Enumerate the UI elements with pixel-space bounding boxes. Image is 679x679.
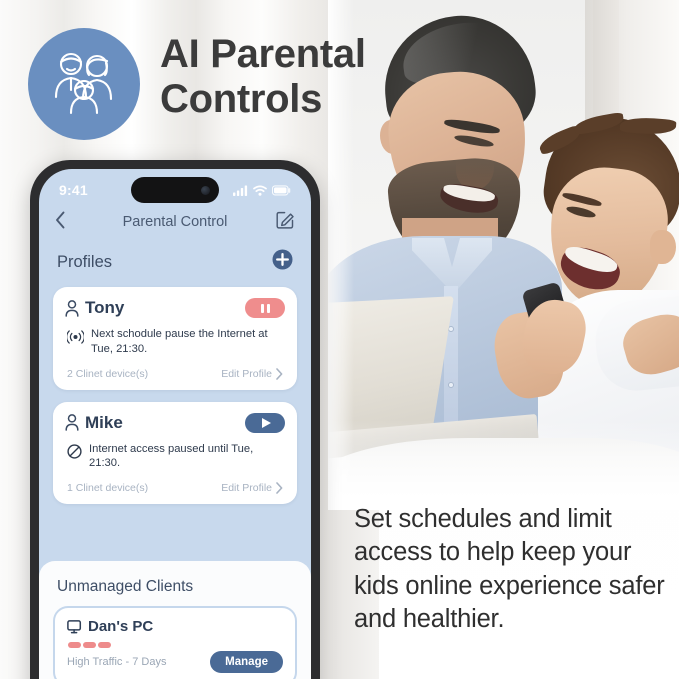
profile-status-row: Internet access paused until Tue, 21:30.: [65, 433, 285, 472]
compose-edit-icon: [276, 210, 295, 229]
profile-name: Mike: [85, 413, 123, 433]
back-button[interactable]: [55, 211, 66, 234]
play-icon: [262, 418, 271, 428]
client-name: Dan's PC: [88, 618, 153, 635]
client-traffic-status: High Traffic - 7 Days: [67, 656, 166, 668]
profile-card-footer: 2 Clinet device(s) Edit Profile: [65, 357, 285, 390]
person-icon: [65, 300, 79, 317]
wifi-icon: [253, 185, 267, 196]
profile-status-text: Internet access paused until Tue, 21:30.: [89, 442, 285, 472]
unmanaged-clients-panel: Unmanaged Clients Dan's PC High Traffic …: [39, 561, 311, 679]
profile-name: Tony: [85, 298, 124, 318]
traffic-level-indicator: [68, 642, 283, 648]
page-title: AI Parental Controls: [160, 32, 430, 122]
chevron-left-icon: [55, 211, 66, 229]
edit-profile-label: Edit Profile: [221, 368, 272, 380]
marketing-copy: Set schedules and limit access to help k…: [354, 503, 666, 637]
page-title-line1: AI Parental: [160, 32, 430, 77]
profiles-section-header: Profiles: [39, 239, 311, 283]
compose-edit-button[interactable]: [276, 210, 295, 234]
client-card-footer: High Traffic - 7 Days Manage: [67, 651, 283, 673]
profile-card-header: Mike: [65, 413, 285, 433]
father-shirt-button: [448, 382, 454, 388]
block-icon: [67, 444, 82, 459]
profile-card[interactable]: Tony Next schodule pause the Internet at…: [53, 287, 297, 390]
edit-profile-label: Edit Profile: [221, 482, 272, 494]
plus-circle-icon: [272, 249, 293, 270]
son-ear: [650, 230, 676, 264]
status-bar-time: 9:41: [59, 182, 88, 198]
profile-status-row: Next schodule pause the Internet at Tue,…: [65, 318, 285, 357]
nav-title: Parental Control: [39, 214, 311, 230]
battery-icon: [272, 185, 291, 196]
chevron-right-icon: [276, 482, 283, 494]
profile-card[interactable]: Mike Internet access paused until Tue, 2…: [53, 402, 297, 505]
promo-banner: AI Parental Controls Set schedules and l…: [0, 0, 679, 679]
monitor-icon: [67, 620, 83, 634]
edit-profile-button[interactable]: Edit Profile: [221, 482, 283, 494]
page-title-line2: Controls: [160, 77, 430, 122]
pause-toggle-button[interactable]: [245, 298, 285, 318]
add-profile-button[interactable]: [272, 249, 293, 275]
profile-device-count: 2 Clinet device(s): [67, 368, 148, 380]
edit-profile-button[interactable]: Edit Profile: [221, 368, 283, 380]
dynamic-island: [131, 177, 219, 203]
broadcast-icon: [67, 330, 84, 344]
profile-card-footer: 1 Clinet device(s) Edit Profile: [65, 471, 285, 504]
manage-button[interactable]: Manage: [210, 651, 283, 673]
profile-status-text: Next schodule pause the Internet at Tue,…: [91, 327, 285, 357]
chevron-right-icon: [276, 368, 283, 380]
client-identity: Dan's PC: [67, 618, 283, 635]
pause-icon: [261, 304, 270, 313]
phone-screen: 9:41: [39, 169, 311, 679]
profile-identity: Mike: [65, 413, 123, 433]
profile-card-header: Tony: [65, 298, 285, 318]
family-icon: [28, 28, 140, 140]
profiles-title: Profiles: [57, 253, 112, 272]
person-icon: [65, 414, 79, 431]
profile-device-count: 1 Clinet device(s): [67, 482, 148, 494]
status-bar: 9:41: [39, 169, 311, 205]
nav-bar: Parental Control: [39, 205, 311, 239]
front-camera-icon: [201, 186, 210, 195]
play-toggle-button[interactable]: [245, 413, 285, 433]
phone-mockup: 9:41: [30, 160, 320, 679]
client-card[interactable]: Dan's PC High Traffic - 7 Days Manage: [53, 606, 297, 679]
cellular-signal-icon: [233, 185, 248, 196]
profile-identity: Tony: [65, 298, 124, 318]
status-bar-icons: [233, 185, 291, 196]
unmanaged-clients-title: Unmanaged Clients: [39, 561, 311, 606]
photo-bottom-fade: [328, 420, 679, 510]
